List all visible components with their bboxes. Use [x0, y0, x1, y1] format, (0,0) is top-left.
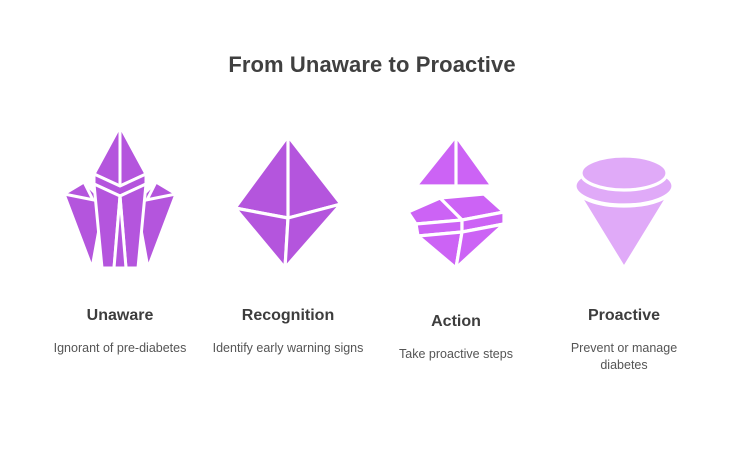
- octahedron-gem-icon: [208, 120, 368, 272]
- stage-caption: Identify early warning signs: [204, 340, 372, 357]
- stage-text-block: Action Take proactive steps: [372, 312, 540, 363]
- split-gem-icon: [376, 120, 536, 272]
- stage-text-block: Recognition Identify early warning signs: [204, 306, 372, 357]
- stage-label: Unaware: [36, 306, 204, 326]
- stage-caption: Ignorant of pre-diabetes: [36, 340, 204, 357]
- stage-caption: Take proactive steps: [372, 346, 540, 363]
- stage-caption: Prevent or manage diabetes: [540, 340, 708, 374]
- stage-text-block: Unaware Ignorant of pre-diabetes: [36, 306, 204, 357]
- page-title: From Unaware to Proactive: [0, 52, 744, 78]
- stage-label: Action: [372, 312, 540, 332]
- stage-text-block: Proactive Prevent or manage diabetes: [540, 306, 708, 374]
- crystal-cluster-icon: [40, 120, 200, 272]
- brilliant-cut-gem-icon: [544, 120, 704, 272]
- infographic-canvas: From Unaware to Proactive: [0, 0, 744, 456]
- stage-item-unaware: Unaware Ignorant of pre-diabetes: [36, 120, 204, 357]
- stage-label: Proactive: [540, 306, 708, 326]
- stage-item-recognition: Recognition Identify early warning signs: [204, 120, 372, 357]
- stage-item-proactive: Proactive Prevent or manage diabetes: [540, 120, 708, 374]
- stage-list: Unaware Ignorant of pre-diabetes Recogni…: [0, 120, 744, 410]
- stage-label: Recognition: [204, 306, 372, 326]
- stage-item-action: Action Take proactive steps: [372, 120, 540, 363]
